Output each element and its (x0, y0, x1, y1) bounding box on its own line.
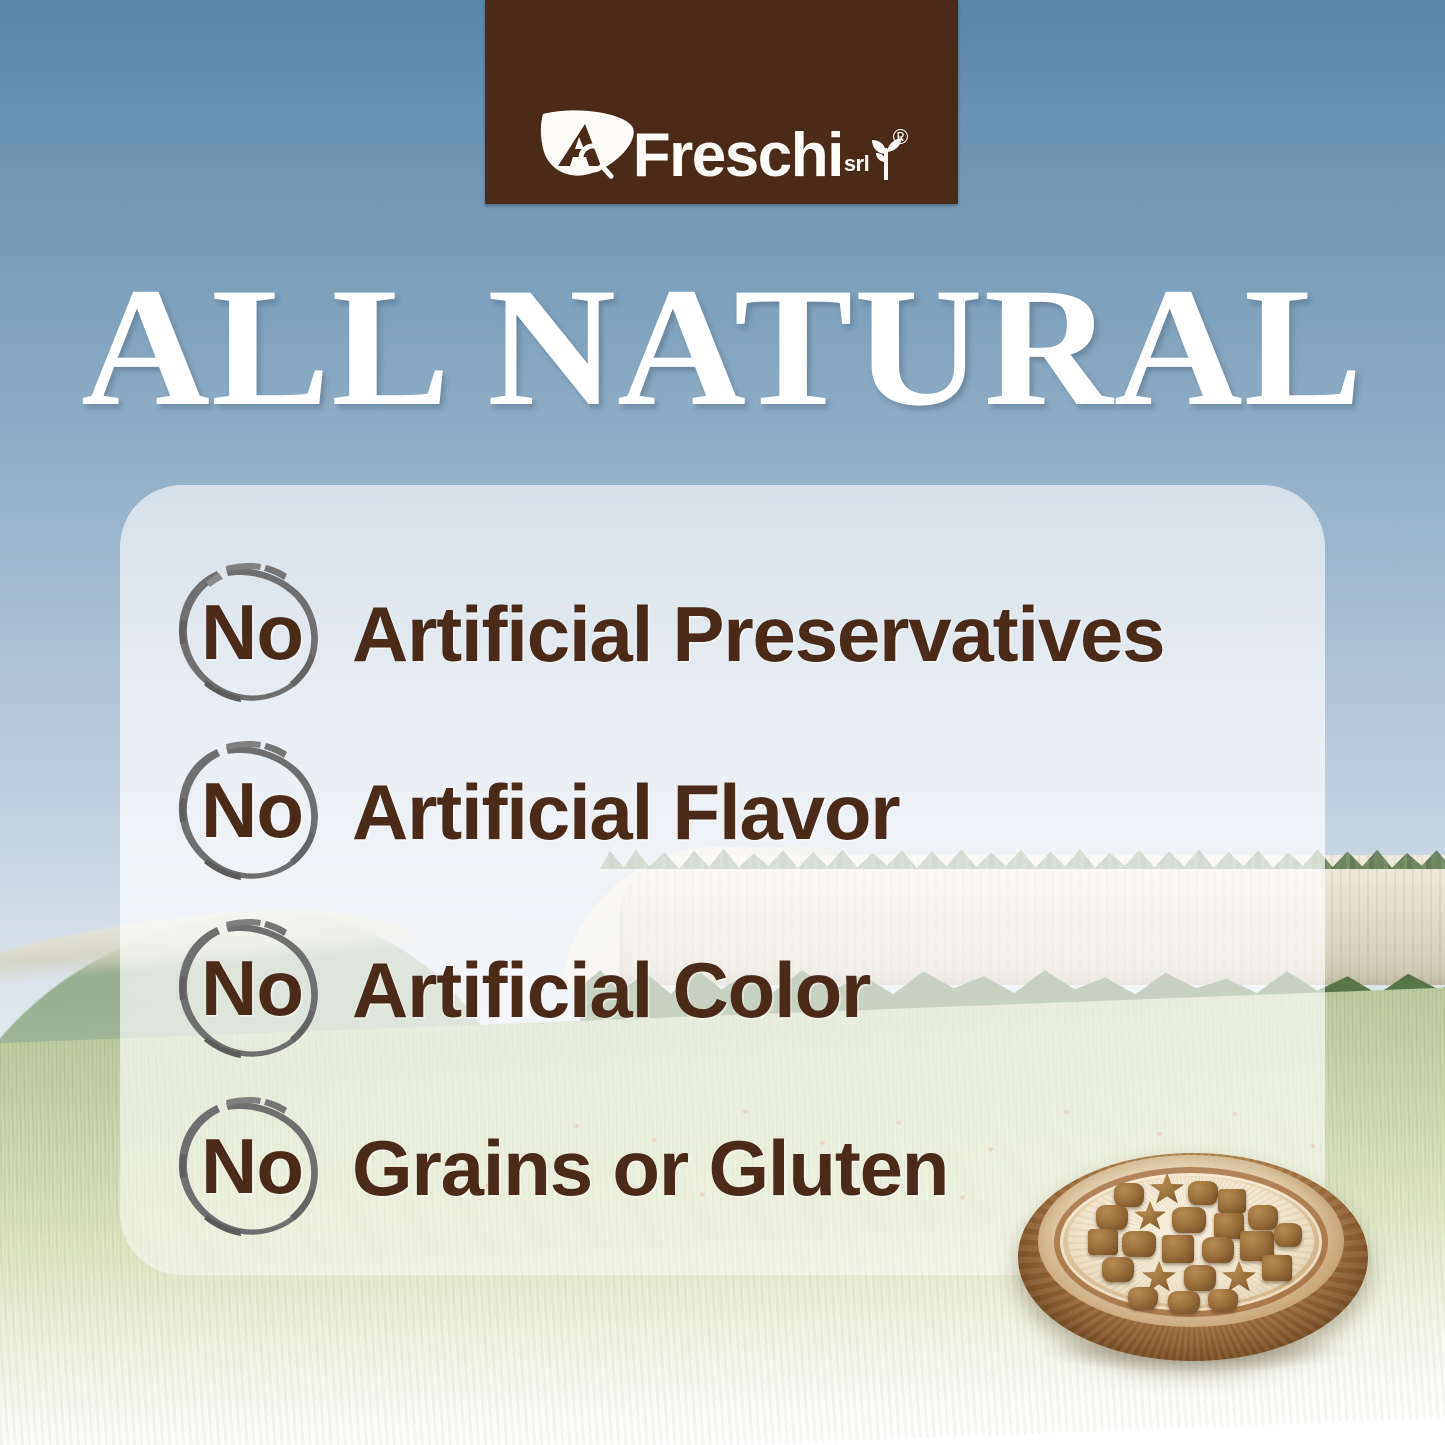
claim-text: Artificial Flavor (352, 773, 899, 851)
treat-piece (1088, 1229, 1118, 1255)
no-circle-badge: No (170, 1088, 330, 1248)
product-photo (1010, 1125, 1380, 1375)
no-label: No (201, 1127, 303, 1205)
treat-piece (1168, 1291, 1200, 1313)
claim-text: Artificial Preservatives (352, 595, 1164, 673)
treat-piece (1122, 1231, 1156, 1257)
no-label: No (201, 949, 303, 1027)
treat-piece (1096, 1205, 1128, 1230)
registered-trademark-icon: ® (893, 126, 908, 150)
list-item: No Artificial Flavor (170, 723, 1350, 901)
page-title: ALL NATURAL (0, 262, 1445, 432)
treat-piece (1102, 1257, 1134, 1282)
no-circle-badge: No (170, 732, 330, 892)
all-natural-product-poster: Freschi srl ® ALL NATURAL (0, 0, 1445, 1445)
treat-piece (1208, 1289, 1238, 1311)
brand-suffix: srl (844, 151, 869, 177)
treat-piece (1188, 1181, 1218, 1205)
treat-piece (1262, 1255, 1292, 1281)
list-item: No Artificial Color (170, 901, 1350, 1079)
treat-piece (1202, 1237, 1234, 1263)
no-circle-badge: No (170, 554, 330, 714)
brand-header-bar: Freschi srl ® (485, 0, 958, 204)
no-label: No (201, 771, 303, 849)
afreschi-logo: Freschi srl ® (539, 108, 904, 182)
claim-text: Artificial Color (352, 951, 870, 1029)
leaf-with-a-icon (539, 108, 637, 182)
treat-piece (1184, 1265, 1216, 1291)
treat-piece (1218, 1189, 1246, 1213)
no-label: No (201, 593, 303, 671)
list-item: No Artificial Preservatives (170, 545, 1350, 723)
treat-piece (1162, 1235, 1194, 1263)
treat-piece (1172, 1207, 1206, 1233)
treat-piece (1114, 1183, 1144, 1207)
treat-piece (1128, 1287, 1158, 1309)
sprout-icon: ® (870, 134, 904, 180)
treat-piece (1274, 1223, 1302, 1247)
no-circle-badge: No (170, 910, 330, 1070)
treat-piece (1248, 1205, 1278, 1230)
brand-name: Freschi (633, 131, 843, 182)
claim-text: Grains or Gluten (352, 1129, 948, 1207)
